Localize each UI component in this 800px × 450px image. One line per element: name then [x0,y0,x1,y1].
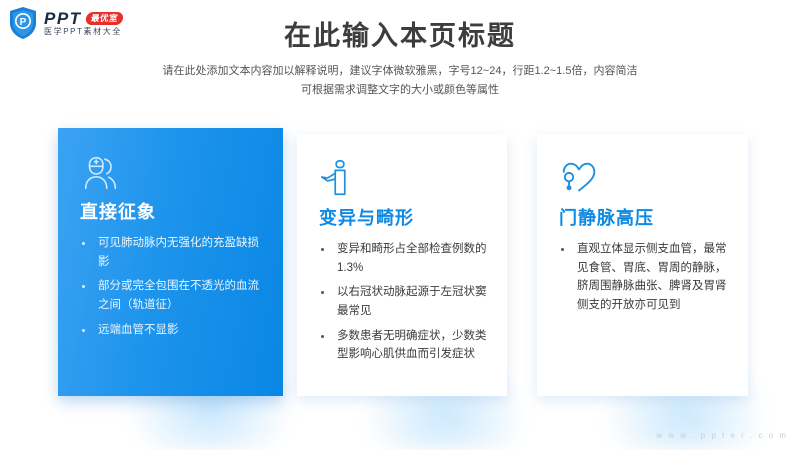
heart-stethoscope-icon [559,158,728,200]
card-variation-malformation[interactable]: 变异与畸形 变异和畸形占全部检查例数的1.3% 以右冠状动脉起源于左冠状窦最常见… [297,134,507,396]
list-item: 直观立体显示侧支血管，最常见食管、胃底、胃周的静脉，脐周围静脉曲张、脾肾及胃肾侧… [559,240,728,315]
list-item: 远端血管不显影 [80,321,263,340]
doctor-icon [80,152,263,194]
card-portal-hypertension[interactable]: 门静脉高压 直观立体显示侧支血管，最常见食管、胃底、胃周的静脉，脐周围静脉曲张、… [537,134,748,396]
card-bullet-list: 可见肺动脉内无强化的充盈缺损影 部分或完全包围在不透光的血流之间（轨道征） 远端… [80,234,263,339]
card-bullet-list: 变异和畸形占全部检查例数的1.3% 以右冠状动脉起源于左冠状窦最常见 多数患者无… [319,240,487,364]
watermark: w w w . p p t e r . c o m [656,431,788,440]
card-title: 直接征象 [80,198,263,224]
list-item: 可见肺动脉内无强化的充盈缺损影 [80,234,263,271]
card-title: 变异与畸形 [319,204,487,230]
card-group: 直接征象 可见肺动脉内无强化的充盈缺损影 部分或完全包围在不透光的血流之间（轨道… [0,0,800,450]
person-hand-icon [319,158,487,200]
card-bullet-list: 直观立体显示侧支血管，最常见食管、胃底、胃周的静脉，脐周围静脉曲张、脾肾及胃肾侧… [559,240,728,315]
card-direct-signs[interactable]: 直接征象 可见肺动脉内无强化的充盈缺损影 部分或完全包围在不透光的血流之间（轨道… [58,128,283,396]
list-item: 多数患者无明确症状，少数类型影响心肌供血而引发症状 [319,327,487,364]
list-item: 变异和畸形占全部检查例数的1.3% [319,240,487,277]
card-title: 门静脉高压 [559,204,728,230]
list-item: 以右冠状动脉起源于左冠状窦最常见 [319,283,487,320]
list-item: 部分或完全包围在不透光的血流之间（轨道征） [80,277,263,314]
